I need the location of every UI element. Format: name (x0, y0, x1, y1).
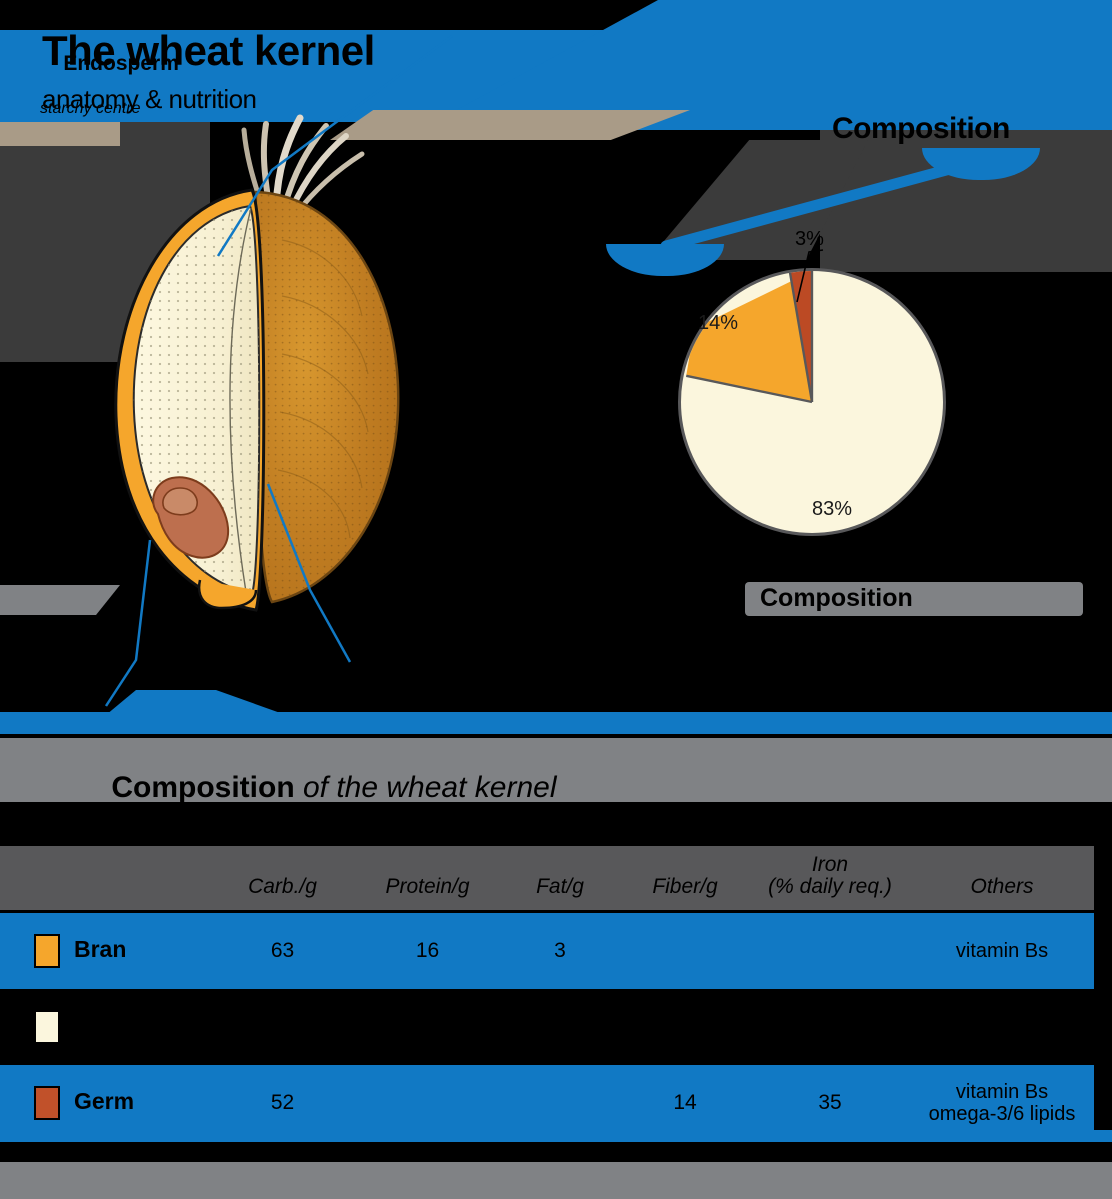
col-header-fiber: Fiber/g (620, 846, 750, 912)
cell-endosperm-others (910, 989, 1094, 1065)
cell-bran-carb: 63 (210, 912, 355, 990)
table-row[interactable]: Endosperm 79 7 (0, 989, 1094, 1065)
col-header-fat: Fat/g (500, 846, 620, 912)
pie-germ-callout-line (795, 244, 825, 304)
cell-bran-others: vitamin Bs (910, 912, 1094, 990)
swatch-bran-icon (34, 934, 60, 968)
cell-endosperm-protein: 7 (355, 989, 500, 1065)
cell-endosperm-fat (500, 989, 620, 1065)
col-header-carb: Carb./g (210, 846, 355, 912)
table-row[interactable]: Bran 63 16 3 vitamin Bs (0, 912, 1094, 990)
cell-bran-iron (750, 912, 910, 990)
infographic-page: The wheat kernel anatomy & nutrition Com… (0, 0, 1112, 1199)
table-header-row: Carb./g Protein/g Fat/g Fiber/g Iron (% … (0, 846, 1094, 912)
swatch-endosperm-icon (34, 1010, 60, 1044)
balance-pan-left (606, 244, 724, 276)
footer-blue-band (0, 1130, 1112, 1142)
col-header-protein: Protein/g (355, 846, 500, 912)
cell-bran-protein: 16 (355, 912, 500, 990)
cell-bran-fiber (620, 912, 750, 990)
nutrition-table: Carb./g Protein/g Fat/g Fiber/g Iron (% … (0, 846, 1094, 1141)
col-header-name (0, 846, 210, 912)
label-endosperm: Endosperm starchy centre (40, 28, 179, 166)
row-label-endosperm: Endosperm (0, 989, 210, 1065)
swatch-germ-icon (34, 1086, 60, 1120)
cell-bran-fat: 3 (500, 912, 620, 990)
composition-pie-chart: 14% 83% 3% (600, 140, 1020, 580)
col-header-iron: Iron (% daily req.) (750, 846, 910, 912)
cell-endosperm-fiber (620, 989, 750, 1065)
footer-gray-band (0, 1162, 1112, 1199)
section-heading: Composition of the wheat kernel (78, 737, 556, 839)
divider-blue-bar (0, 712, 1112, 734)
cell-endosperm-carb: 79 (210, 989, 355, 1065)
row-label-bran: Bran (0, 912, 210, 990)
pie-slice-dividers (681, 271, 943, 533)
pie-label-bran: 14% (698, 312, 738, 335)
pie-circle (678, 268, 946, 536)
caption-right-text: Composition (760, 584, 913, 613)
pie-label-endosperm: 83% (812, 498, 852, 521)
cell-endosperm-iron (750, 989, 910, 1065)
col-header-others: Others (910, 846, 1094, 912)
